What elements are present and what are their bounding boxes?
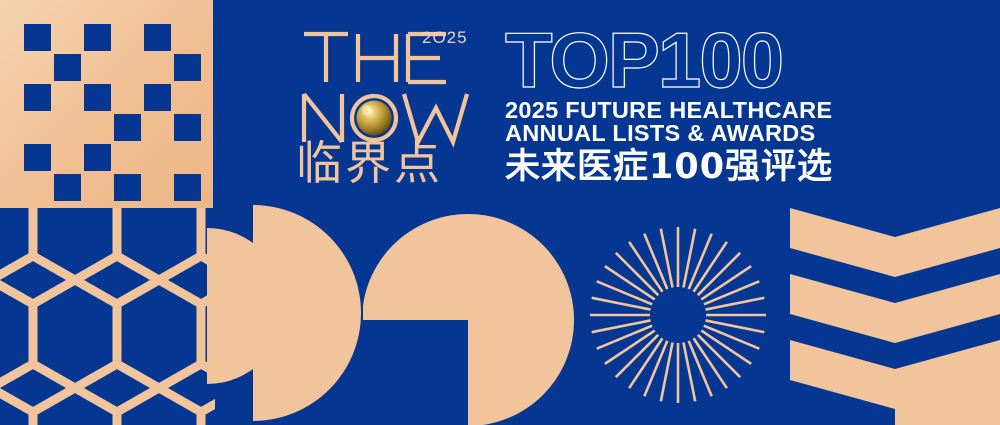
checker-cell xyxy=(144,84,171,111)
checker-cell xyxy=(24,24,51,51)
checker-cell xyxy=(54,54,81,81)
top100-wrap: TOP100 xyxy=(505,24,845,96)
top100-title: TOP100 xyxy=(505,24,845,96)
hexagon-lattice-pattern xyxy=(0,208,215,425)
checker-cell xyxy=(114,114,141,141)
checker-cell xyxy=(84,24,111,51)
gold-orb xyxy=(357,101,392,136)
checker-cell xyxy=(24,84,51,111)
logo-year-badge: 2O25 xyxy=(422,28,468,48)
checker-cell xyxy=(54,174,81,201)
sunburst-rays xyxy=(588,225,768,405)
headline-english-line-1: 2025 FUTURE HEALTHCARE xyxy=(505,99,845,122)
half-disc-large xyxy=(253,205,361,421)
headline-english-line-2: ANNUAL LISTS & AWARDS xyxy=(505,122,845,145)
notched-disc xyxy=(363,208,575,425)
checker-cell xyxy=(24,144,51,171)
checker-cell xyxy=(114,174,141,201)
checker-cell xyxy=(84,144,111,171)
logo-the-now: 临界点 xyxy=(296,24,482,184)
logo-chinese-text: 临界点 xyxy=(296,136,443,184)
checker-cell xyxy=(174,174,201,201)
chevron-stripes xyxy=(790,204,1000,425)
checkerboard-pattern xyxy=(0,0,213,208)
headline-block: TOP100 2025 FUTURE HEALTHCARE ANNUAL LIS… xyxy=(505,24,845,187)
checker-cell xyxy=(174,114,201,141)
headline-chinese-line: 未来医症100强评选 xyxy=(505,147,845,187)
checker-cell xyxy=(174,54,201,81)
checker-cell xyxy=(144,24,171,51)
top100-awards-banner: 临界点 2O25 TOP100 2025 FUTURE HEALTHCARE A… xyxy=(0,0,1000,425)
checker-cell xyxy=(84,84,111,111)
